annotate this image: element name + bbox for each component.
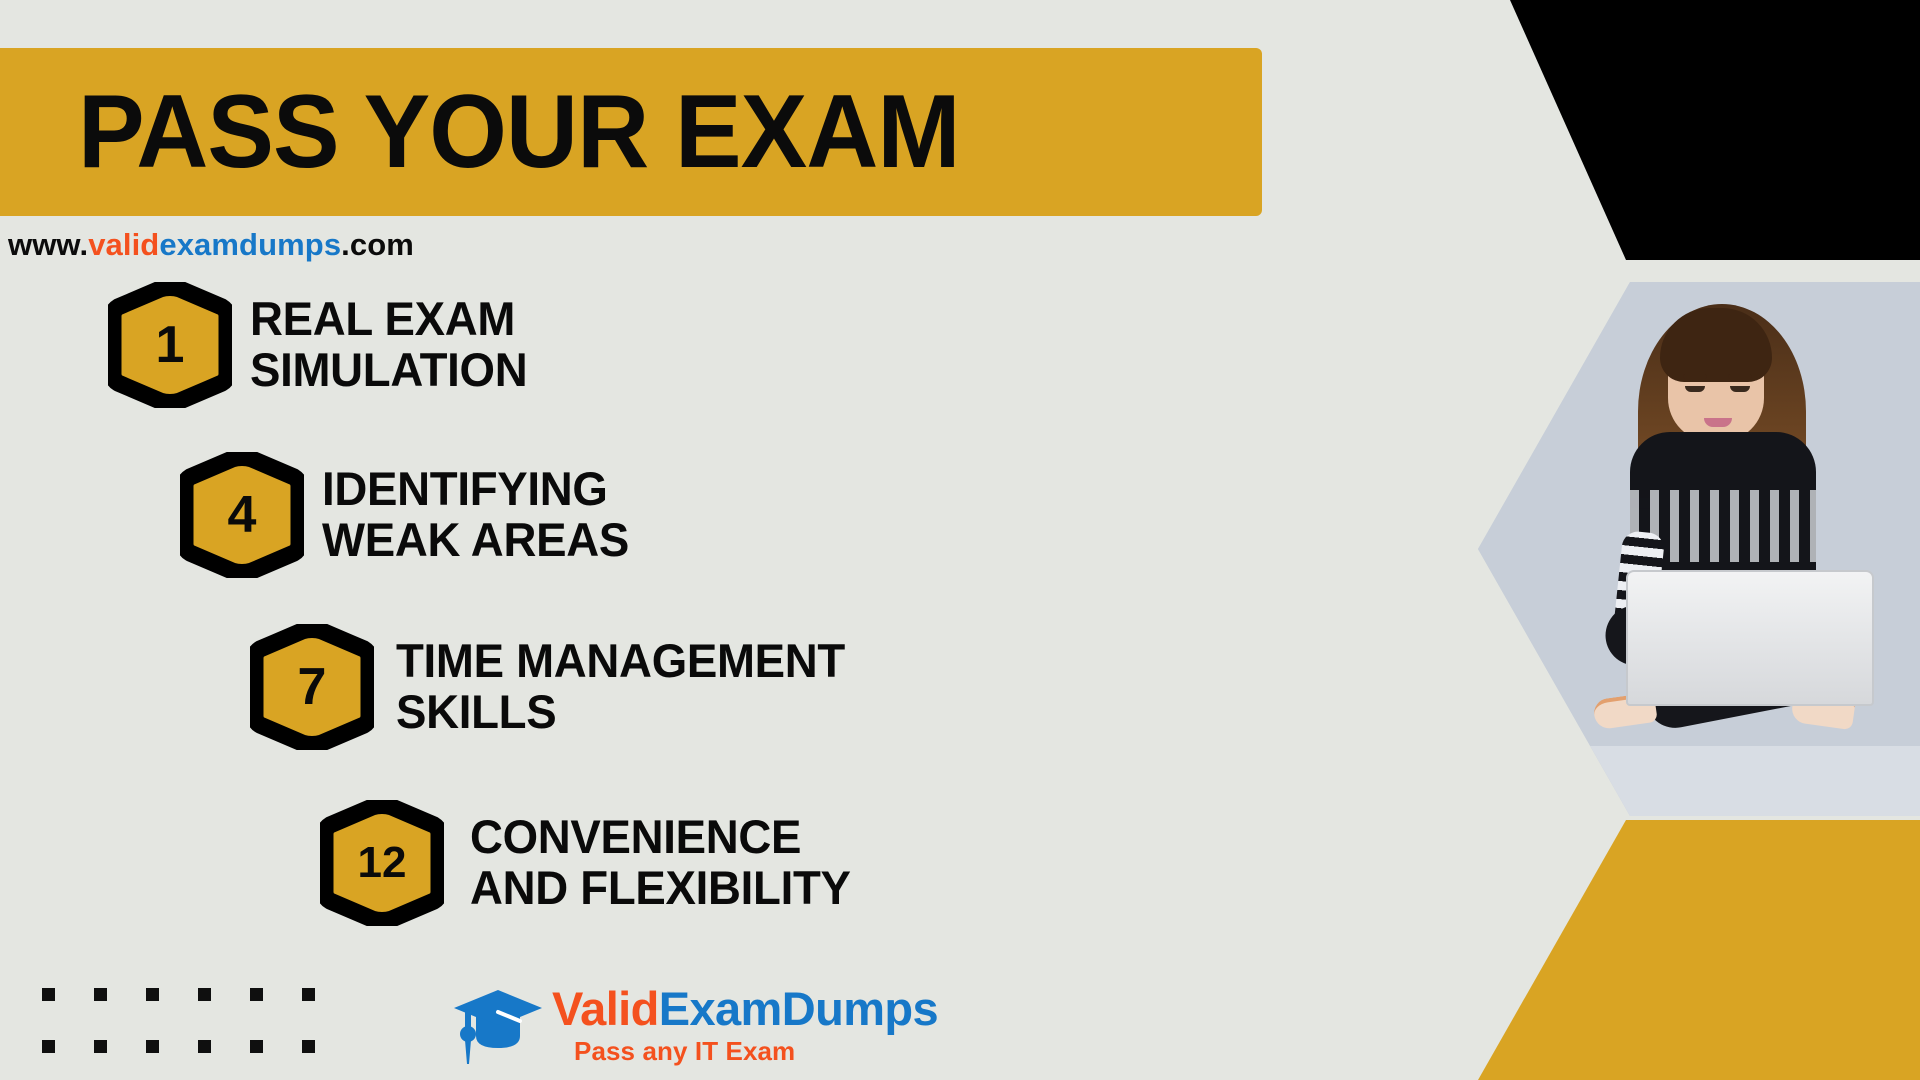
dot [302,1040,315,1053]
photo-eye-left [1685,386,1705,392]
feature-item-1: 1 REAL EXAM SIMULATION [108,282,536,408]
feature-item-4: 12 CONVENIENCE AND FLEXIBILITY [320,800,862,926]
yellow-angled-polygon [1450,820,1920,1080]
dot [198,1040,211,1053]
feature-label-1: REAL EXAM SIMULATION [250,294,527,396]
brand-logo[interactable]: ValidExamDumps Pass any IT Exam [452,982,938,1070]
photo-eye-right [1730,386,1750,392]
hexagon-badge-7: 7 [250,624,374,750]
photo-eyebrow-right [1728,374,1752,379]
url-brand-examdumps: examdumps [159,227,341,262]
dot [94,1040,107,1053]
photo-floor [1478,746,1920,816]
logo-title: ValidExamDumps [552,985,938,1032]
url-suffix: .com [341,227,414,262]
logo-tagline: Pass any IT Exam [574,1036,938,1067]
hexagon-number-1: 1 [108,282,232,408]
feature-label-4: CONVENIENCE AND FLEXIBILITY [470,812,851,914]
graduation-cap-icon [452,982,544,1070]
photo-laptop [1626,570,1874,706]
title-banner: PASS YOUR EXAM [0,48,1262,216]
hexagon-number-4: 4 [180,452,304,578]
photo-eyebrow-left [1683,374,1707,379]
feature-label-2: IDENTIFYING WEAK AREAS [322,464,629,566]
hexagon-photo-woman-with-laptop [1478,282,1920,816]
dot [42,1040,55,1053]
dot [250,1040,263,1053]
dot [94,988,107,1001]
logo-wordmark: ValidExamDumps Pass any IT Exam [552,985,938,1067]
feature-item-2: 4 IDENTIFYING WEAK AREAS [180,452,638,578]
page-title: PASS YOUR EXAM [78,80,960,184]
dot [146,1040,159,1053]
dot [198,988,211,1001]
logo-word-exam: Exam [659,982,782,1035]
url-brand-valid: valid [88,227,159,262]
dot [250,988,263,1001]
logo-word-valid: Valid [552,982,659,1035]
feature-label-3: TIME MANAGEMENT SKILLS [396,636,845,738]
poster-canvas: PASS YOUR EXAM www.validexamdumps.com 1 … [0,0,1920,1080]
hexagon-badge-12: 12 [320,800,444,926]
black-angled-polygon [1480,0,1920,260]
dot [42,988,55,1001]
dot [146,988,159,1001]
logo-word-dumps: Dumps [782,982,938,1035]
hexagon-badge-4: 4 [180,452,304,578]
dot [302,988,315,1001]
feature-item-3: 7 TIME MANAGEMENT SKILLS [250,624,859,750]
hexagon-number-7: 7 [250,624,374,750]
hexagon-badge-1: 1 [108,282,232,408]
dot-grid [42,988,354,1080]
hexagon-number-12: 12 [320,800,444,926]
website-url[interactable]: www.validexamdumps.com [8,227,414,263]
url-prefix: www. [8,227,88,262]
